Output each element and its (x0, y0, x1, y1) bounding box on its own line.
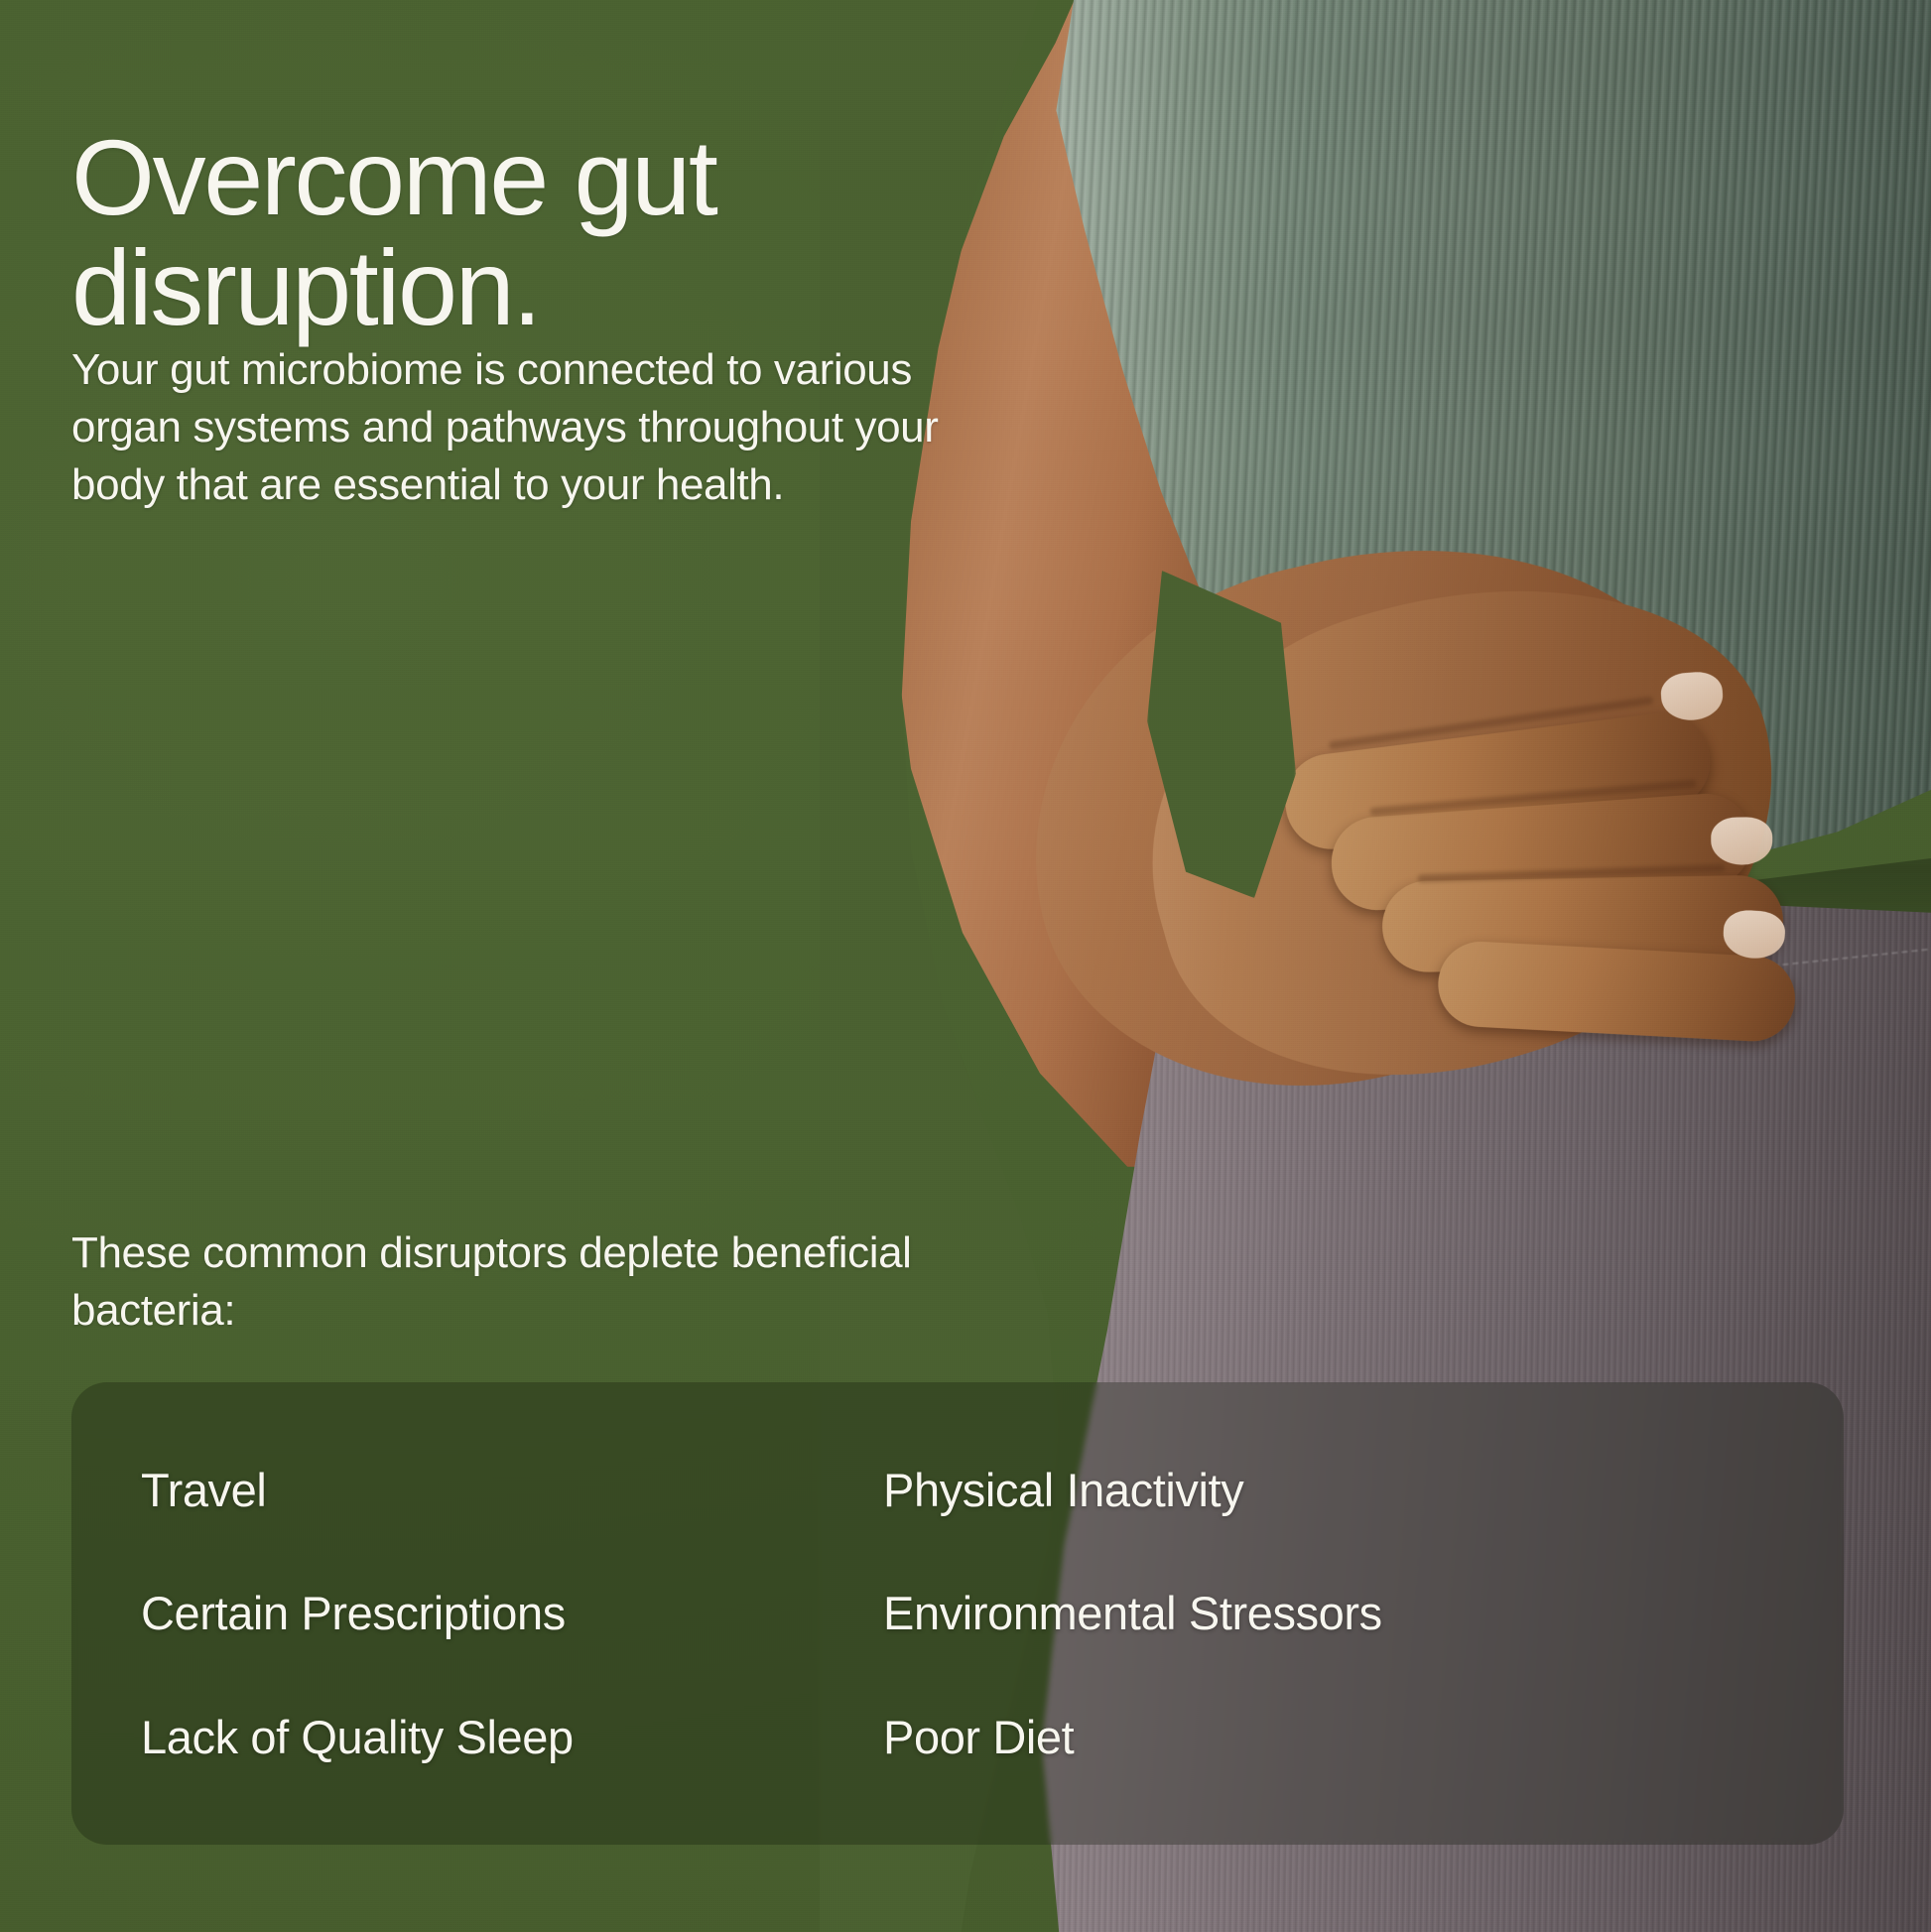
promo-graphic: Overcome gut disruption. Your gut microb… (0, 0, 1931, 1932)
disruptors-card: Travel Physical Inactivity Certain Presc… (71, 1382, 1844, 1845)
disruptors-subhead: These common disruptors deplete benefici… (71, 1224, 965, 1340)
disruptors-grid: Travel Physical Inactivity Certain Presc… (71, 1382, 1844, 1845)
disruptor-item-lack-of-quality-sleep: Lack of Quality Sleep (141, 1714, 883, 1760)
disruptor-item-certain-prescriptions: Certain Prescriptions (141, 1590, 883, 1636)
disruptor-item-poor-diet: Poor Diet (883, 1714, 1844, 1760)
intro-paragraph: Your gut microbiome is connected to vari… (71, 341, 994, 514)
disruptor-item-travel: Travel (141, 1467, 883, 1513)
page-title: Overcome gut disruption. (71, 123, 945, 341)
disruptor-item-environmental-stressors: Environmental Stressors (883, 1590, 1844, 1636)
disruptor-item-physical-inactivity: Physical Inactivity (883, 1467, 1844, 1513)
